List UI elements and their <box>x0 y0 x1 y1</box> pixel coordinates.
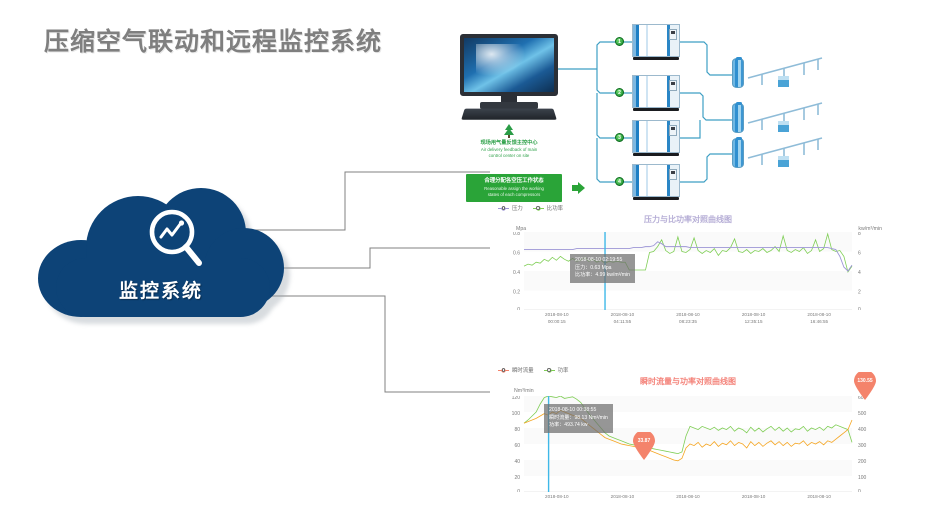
flow-pin-label-high: 130.55 <box>854 378 876 384</box>
compressor-node-4: 4 <box>615 177 624 186</box>
pressure-chart-title: 压力与比功率对照曲线图 <box>492 214 884 225</box>
pressure-chart[interactable]: 压力 比功率 压力与比功率对照曲线图 Mpa kw/m³/min 0.8 0.6… <box>492 202 884 330</box>
svg-text:4: 4 <box>858 270 861 276</box>
svg-text:400: 400 <box>858 427 867 433</box>
legend-label-pressure: 压力 <box>512 204 523 212</box>
svg-text:0.8: 0.8 <box>513 232 520 237</box>
pressure-chart-legend[interactable]: 压力 比功率 <box>498 204 563 212</box>
svg-text:80: 80 <box>514 427 520 433</box>
pressure-plot-area[interactable]: 0.8 0.6 0.4 0.2 0 8 6 4 2 0 <box>492 232 884 310</box>
overhead-piping-3 <box>746 136 832 176</box>
x-tick-3: 2018-08-1012:35:15 <box>721 312 787 326</box>
flow-x-tick-1: 2018-08-10 <box>590 494 656 501</box>
flow-tooltip-timestamp: 2018-08-10 00:38:55 <box>549 407 608 415</box>
compressor-node-2: 2 <box>615 88 624 97</box>
svg-text:6: 6 <box>858 251 861 257</box>
flow-y-axis-unit: Nm³/min <box>514 388 534 394</box>
compressor-node-1: 1 <box>615 37 624 46</box>
svg-text:20: 20 <box>514 475 520 481</box>
legend-item-flow[interactable]: 瞬时流量 <box>498 366 534 374</box>
assign-status-cn: 合理分配各空压工作状态 <box>484 178 543 186</box>
svg-text:8: 8 <box>858 232 861 237</box>
flow-x-axis-labels: 2018-08-10 2018-08-10 2018-08-10 2018-08… <box>524 494 852 501</box>
feedback-label-en-line2: control center on site <box>454 153 564 159</box>
tooltip-specific-power-value: 比功率：4.99 kw/m³/min <box>575 272 630 280</box>
overhead-piping-1 <box>746 56 832 96</box>
tooltip-timestamp: 2018-08-10 02:19:55 <box>575 257 630 265</box>
flow-chart-legend[interactable]: 瞬时流量 功率 <box>498 366 568 374</box>
svg-text:0: 0 <box>858 489 861 492</box>
air-compressor-4 <box>632 164 680 200</box>
svg-text:0.2: 0.2 <box>513 290 520 296</box>
svg-text:300: 300 <box>858 443 867 449</box>
legend-item-specific-power[interactable]: 比功率 <box>533 204 563 212</box>
assign-status-en-line2: states of each compressors <box>484 192 544 198</box>
assign-status-box: 合理分配各空压工作状态 Reasonable assign the workin… <box>466 174 562 202</box>
monitoring-cloud[interactable]: 监控系统 <box>38 188 290 324</box>
x-tick-2: 2018-08-1008:23:35 <box>655 312 721 326</box>
flow-chart-title: 瞬时流量与功率对照曲线图 <box>492 376 884 387</box>
legend-marker-pressure <box>498 206 509 211</box>
assign-status-en: Reasonable assign the working states of … <box>484 186 544 198</box>
x-tick-0: 2018-08-1000:00:15 <box>524 312 590 326</box>
page-title: 压缩空气联动和远程监控系统 <box>44 22 382 58</box>
svg-text:120: 120 <box>512 396 521 401</box>
pressure-x-axis-labels: 2018-08-1000:00:15 2018-08-1004:11:55 20… <box>524 312 852 326</box>
legend-item-pressure[interactable]: 压力 <box>498 204 523 212</box>
flow-tooltip-power-value: 功率：493.74 kw <box>549 422 608 430</box>
x-tick-4: 2018-08-1016:46:55 <box>786 312 852 326</box>
svg-text:0: 0 <box>517 307 520 310</box>
legend-label-power: 功率 <box>558 366 569 374</box>
feedback-label-en: Air delivery feedback of main control ce… <box>454 147 564 159</box>
air-compressor-1 <box>632 24 680 60</box>
legend-item-power[interactable]: 功率 <box>544 366 569 374</box>
svg-text:0.6: 0.6 <box>513 251 520 257</box>
tree-icon <box>503 124 515 138</box>
system-topology-diagram: 现场用气量反馈主控中心 Air delivery feedback of mai… <box>432 24 942 204</box>
pressure-chart-tooltip: 2018-08-10 02:19:55 压力：0.63 Mpa 比功率：4.99… <box>570 254 635 283</box>
svg-text:0: 0 <box>517 489 520 492</box>
flow-x-tick-3: 2018-08-10 <box>721 494 787 501</box>
flow-x-tick-0: 2018-08-10 <box>524 494 590 501</box>
svg-text:0: 0 <box>858 307 861 310</box>
air-compressor-2 <box>632 75 680 111</box>
svg-text:100: 100 <box>858 475 867 481</box>
flow-x-tick-4: 2018-08-10 <box>786 494 852 501</box>
magnifier-chart-icon <box>146 208 208 272</box>
svg-text:100: 100 <box>512 411 521 417</box>
flow-x-tick-2: 2018-08-10 <box>655 494 721 501</box>
legend-marker-specific-power <box>533 206 544 211</box>
flow-pin-marker-low[interactable]: 33.87 <box>633 432 655 460</box>
flow-chart-tooltip: 2018-08-10 00:38:55 瞬时流量：98.13 Nm³/min 功… <box>544 404 613 433</box>
feedback-label-cn: 现场用气量反馈主控中心 <box>454 140 564 147</box>
svg-text:500: 500 <box>858 411 867 417</box>
cloud-label: 监控系统 <box>38 276 284 303</box>
svg-text:0.4: 0.4 <box>513 270 520 276</box>
svg-text:60: 60 <box>514 443 520 449</box>
flow-pin-label-low: 33.87 <box>633 438 655 444</box>
flow-chart[interactable]: 瞬时流量 功率 瞬时流量与功率对照曲线图 Nm³/min 120 100 80 … <box>492 364 884 514</box>
desktop-monitor-icon <box>460 34 558 120</box>
svg-text:40: 40 <box>514 459 520 465</box>
legend-label-specific-power: 比功率 <box>547 204 563 212</box>
compressor-node-3: 3 <box>615 133 624 142</box>
legend-marker-flow <box>498 368 509 373</box>
x-tick-1: 2018-08-1004:11:55 <box>590 312 656 326</box>
green-arrow-icon <box>572 182 585 194</box>
air-compressor-3 <box>632 120 680 156</box>
svg-text:2: 2 <box>858 290 861 296</box>
legend-label-flow: 瞬时流量 <box>512 366 534 374</box>
flow-pin-marker-high[interactable]: 130.55 <box>854 372 876 400</box>
overhead-piping-2 <box>746 101 832 141</box>
legend-marker-power <box>544 368 555 373</box>
svg-text:200: 200 <box>858 459 867 465</box>
